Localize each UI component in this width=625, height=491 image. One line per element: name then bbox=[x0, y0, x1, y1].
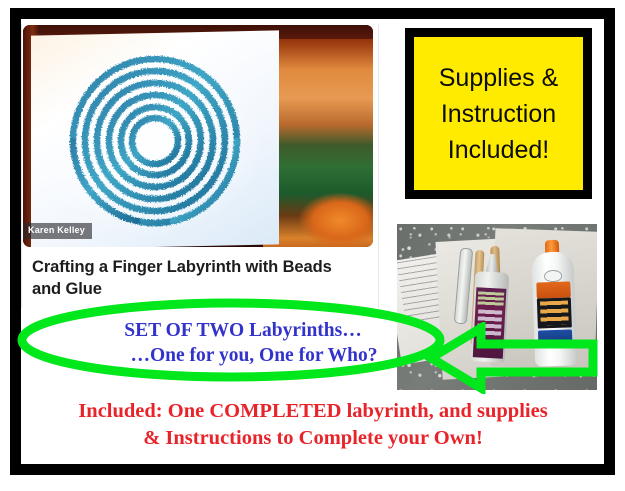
included-footer-text: Included: One COMPLETED labyrinth, and s… bbox=[22, 398, 604, 452]
video-title: Crafting a Finger Labyrinth with Beads a… bbox=[32, 256, 362, 300]
thumbnail-image: Karen Kelley bbox=[23, 25, 373, 247]
footer-line-2: & Instructions to Complete your Own! bbox=[22, 425, 604, 452]
elmers-cow-logo-icon bbox=[544, 270, 562, 283]
school-glue-brand-band bbox=[536, 281, 571, 298]
callout-line-1: Supplies & bbox=[439, 60, 559, 96]
poster-canvas: Karen Kelley Crafting a Finger Labyrinth… bbox=[0, 0, 625, 491]
callout-line-2: Instruction bbox=[441, 96, 556, 132]
callout-text-block: Supplies & Instruction Included! bbox=[414, 37, 583, 190]
video-thumbnail[interactable]: Karen Kelley bbox=[23, 25, 373, 247]
supplies-included-callout: Supplies & Instruction Included! bbox=[405, 28, 592, 199]
glue-label-top-band bbox=[477, 291, 504, 306]
headline-line-2: …One for you, One for Who? bbox=[48, 343, 438, 368]
footer-line-1: Included: One COMPLETED labyrinth, and s… bbox=[22, 398, 604, 425]
video-card[interactable]: Karen Kelley Crafting a Finger Labyrinth… bbox=[21, 24, 379, 308]
headline-line-1: SET OF TWO Labyrinths… bbox=[48, 318, 438, 343]
set-of-two-headline: SET OF TWO Labyrinths… …One for you, One… bbox=[48, 318, 438, 368]
green-left-arrow-icon bbox=[425, 322, 599, 394]
watermark-label: Karen Kelley bbox=[23, 223, 92, 239]
bead-labyrinth-icon bbox=[29, 31, 281, 247]
callout-line-3: Included! bbox=[448, 132, 549, 168]
